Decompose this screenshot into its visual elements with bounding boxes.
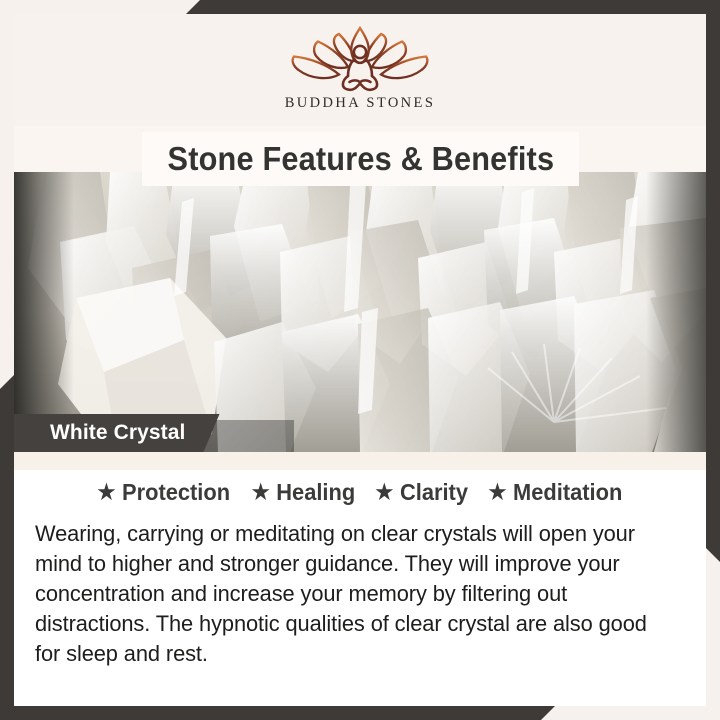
benefit-item: ★ Meditation (489, 479, 623, 506)
content-panel: ★ Protection ★ Healing ★ Clarity ★ Medit… (14, 470, 706, 706)
stone-name-badge: White Crystal (14, 414, 220, 452)
star-icon: ★ (98, 482, 116, 503)
frame-border-top (0, 0, 720, 14)
benefit-item: ★ Clarity (375, 479, 468, 506)
stone-name-label: White Crystal (50, 421, 186, 445)
benefit-label: Healing (276, 479, 355, 506)
star-icon: ★ (251, 482, 269, 503)
brand-logo: BUDDHA STONES (14, 22, 706, 112)
lotus-meditation-icon (285, 22, 435, 94)
frame-border-right (706, 0, 720, 562)
separator-strip (14, 452, 706, 470)
benefit-item: ★ Healing (251, 479, 354, 506)
benefits-row: ★ Protection ★ Healing ★ Clarity ★ Medit… (14, 470, 706, 506)
stone-description: Wearing, carrying or meditating on clear… (35, 519, 665, 669)
star-icon: ★ (375, 482, 393, 503)
frame-border-left (0, 375, 14, 720)
crystal-photo (14, 172, 706, 452)
benefit-label: Meditation (513, 479, 622, 506)
page-title-banner: Stone Features & Benefits (142, 132, 579, 186)
benefit-label: Clarity (400, 479, 468, 506)
frame-border-bottom (0, 706, 720, 720)
star-icon: ★ (489, 482, 507, 503)
card-page: BUDDHA STONES (14, 14, 706, 706)
page-title: Stone Features & Benefits (167, 140, 554, 178)
benefit-item: ★ Protection (98, 479, 231, 506)
brand-header: BUDDHA STONES (14, 14, 706, 126)
stone-feature-card: BUDDHA STONES (0, 0, 720, 720)
brand-name: BUDDHA STONES (285, 95, 436, 112)
benefit-label: Protection (122, 479, 230, 506)
